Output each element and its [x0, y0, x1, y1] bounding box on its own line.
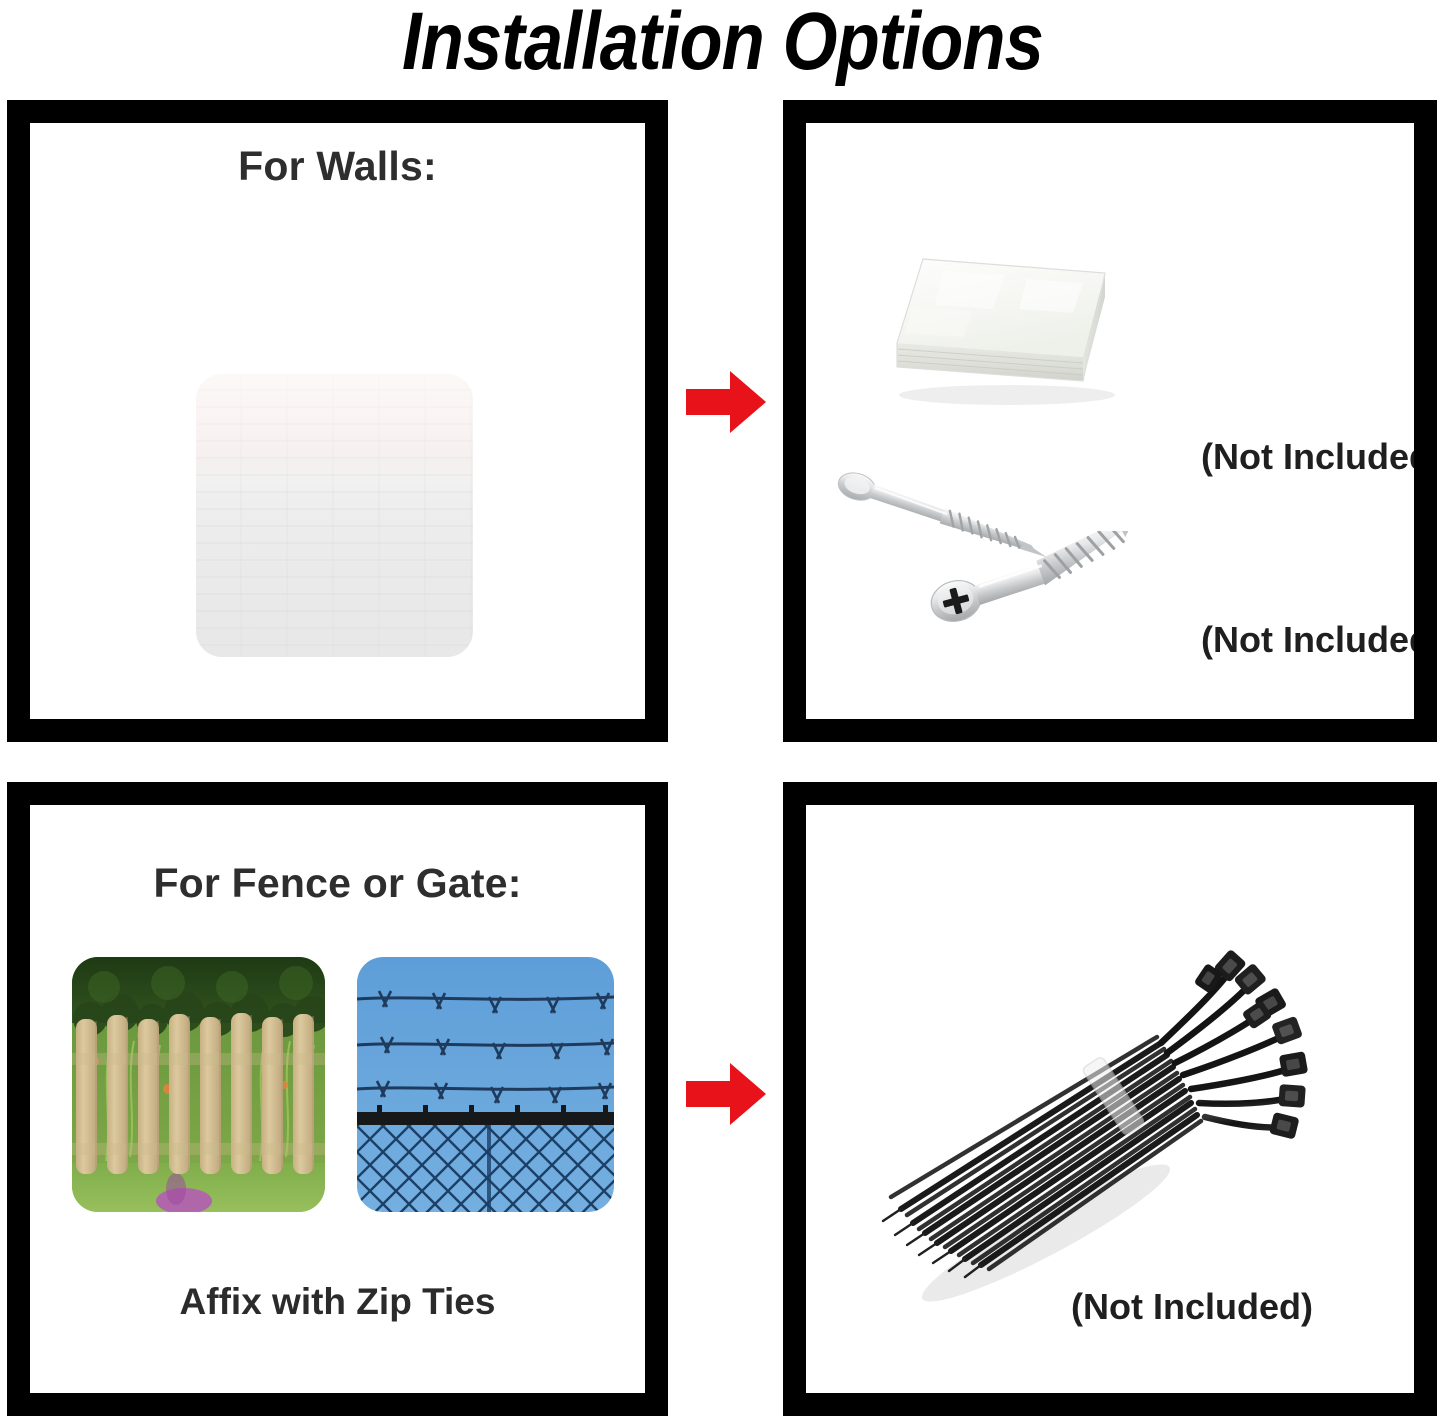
tape-not-included-label: (Not Included)	[1201, 436, 1414, 478]
for-fence-heading: For Fence or Gate:	[30, 860, 645, 907]
screws-not-included-label: (Not Included)	[1201, 619, 1414, 661]
zip-ties-bundle-image	[861, 933, 1331, 1303]
panel-for-fence-or-gate-inner: For Fence or Gate:	[30, 805, 645, 1393]
chain-link-fence-photo	[357, 957, 614, 1212]
for-walls-heading: For Walls:	[30, 143, 645, 190]
whitewash-overlay	[196, 374, 473, 657]
panel-for-walls-inner: For Walls: Affix with Screws or Double S…	[30, 123, 645, 719]
right-arrow-icon-bottom	[686, 1063, 766, 1125]
panel-zip-ties: (Not Included)	[783, 782, 1437, 1416]
zipties-not-included-label: (Not Included)	[1071, 1286, 1313, 1328]
page-title: Installation Options	[101, 0, 1344, 87]
panel-wall-hardware-inner: (Not Included)	[806, 123, 1414, 719]
panel-wall-hardware: (Not Included)	[783, 100, 1437, 742]
panel-for-walls: For Walls: Affix with Screws or Double S…	[7, 100, 668, 742]
wood-screw-lower-image	[924, 531, 1167, 629]
right-arrow-icon-top	[686, 371, 766, 433]
panel-for-fence-or-gate: For Fence or Gate:	[7, 782, 668, 1416]
double-sided-tape-image	[877, 251, 1124, 408]
panel-zip-ties-inner: (Not Included)	[806, 805, 1414, 1393]
wooden-picket-fence-photo	[72, 957, 325, 1212]
white-brick-wall-image	[196, 374, 473, 657]
fence-caption-line-1: Affix with Zip Ties	[30, 1278, 645, 1325]
walls-caption-line-1: Affix with Screws	[30, 713, 645, 719]
